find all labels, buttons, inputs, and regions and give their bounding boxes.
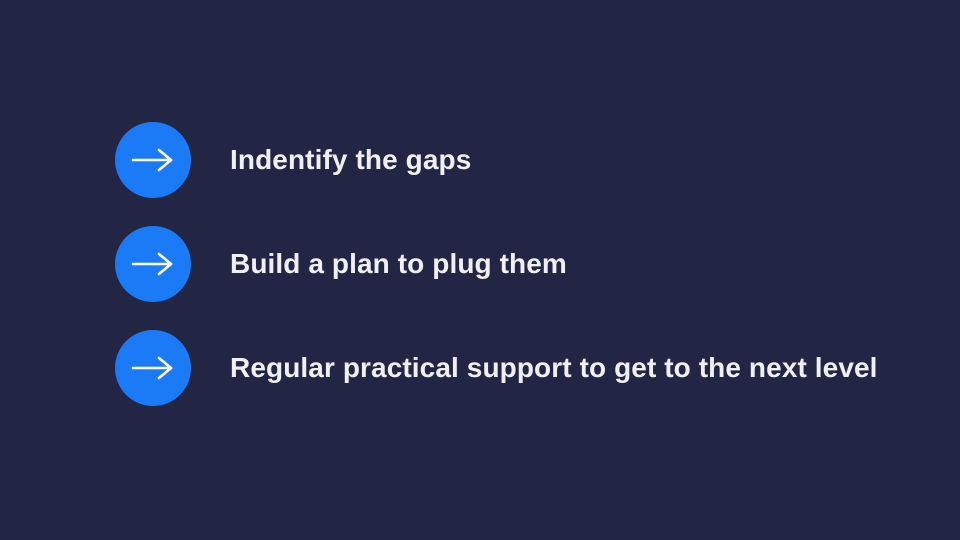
bullet-label: Indentify the gaps bbox=[230, 145, 471, 176]
bullet-list: Indentify the gaps Build a plan to plug … bbox=[115, 122, 935, 406]
bullet-badge bbox=[115, 330, 191, 406]
list-item[interactable]: Indentify the gaps bbox=[115, 122, 935, 198]
arrow-right-icon bbox=[130, 147, 176, 173]
slide-canvas: Indentify the gaps Build a plan to plug … bbox=[0, 0, 960, 540]
list-item[interactable]: Regular practical support to get to the … bbox=[115, 330, 935, 406]
list-item[interactable]: Build a plan to plug them bbox=[115, 226, 935, 302]
arrow-right-icon bbox=[130, 251, 176, 277]
bullet-badge bbox=[115, 226, 191, 302]
bullet-badge bbox=[115, 122, 191, 198]
bullet-label: Build a plan to plug them bbox=[230, 249, 567, 280]
bullet-label: Regular practical support to get to the … bbox=[230, 353, 878, 384]
arrow-right-icon bbox=[130, 355, 176, 381]
